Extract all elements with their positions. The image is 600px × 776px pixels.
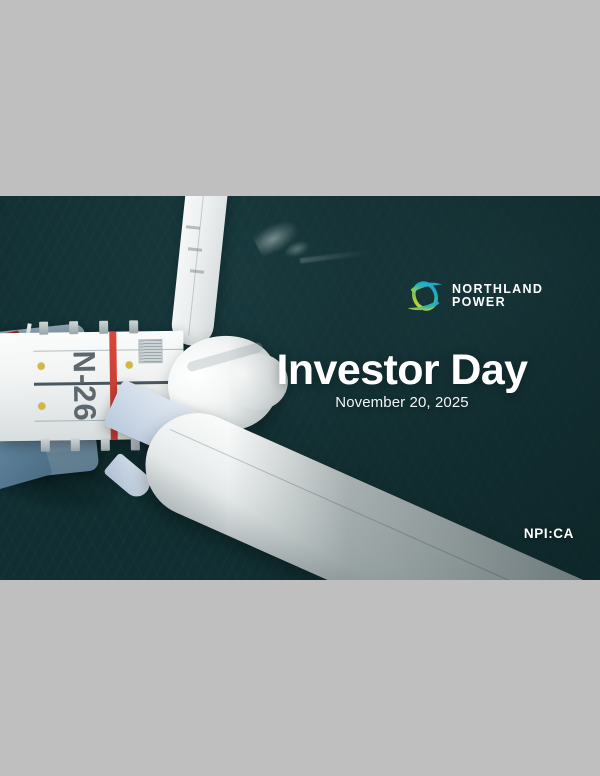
nacelle-bolt: [126, 361, 133, 368]
slide-canvas: N-26: [0, 196, 600, 580]
nacelle-mount-foot: [129, 320, 138, 333]
nacelle-mount-foot: [41, 439, 50, 452]
northland-power-logo-icon: [405, 276, 445, 316]
nacelle-mount-foot: [69, 321, 78, 334]
slide-headline: Investor Day: [232, 346, 572, 395]
nacelle-mount-foot: [101, 438, 110, 451]
brand-word-line-2: POWER: [452, 296, 543, 309]
slide-subheadline: November 20, 2025: [232, 394, 572, 411]
nacelle-mount-foot: [71, 438, 80, 451]
brand-lockup: NORTHLAND POWER: [405, 276, 543, 316]
nacelle-mount-foot: [39, 322, 48, 335]
stock-ticker-label: NPI:CA: [524, 526, 574, 541]
nacelle-vent-grille: [138, 339, 162, 363]
brand-wordmark: NORTHLAND POWER: [452, 283, 543, 309]
nacelle-mount-foot: [99, 321, 108, 334]
